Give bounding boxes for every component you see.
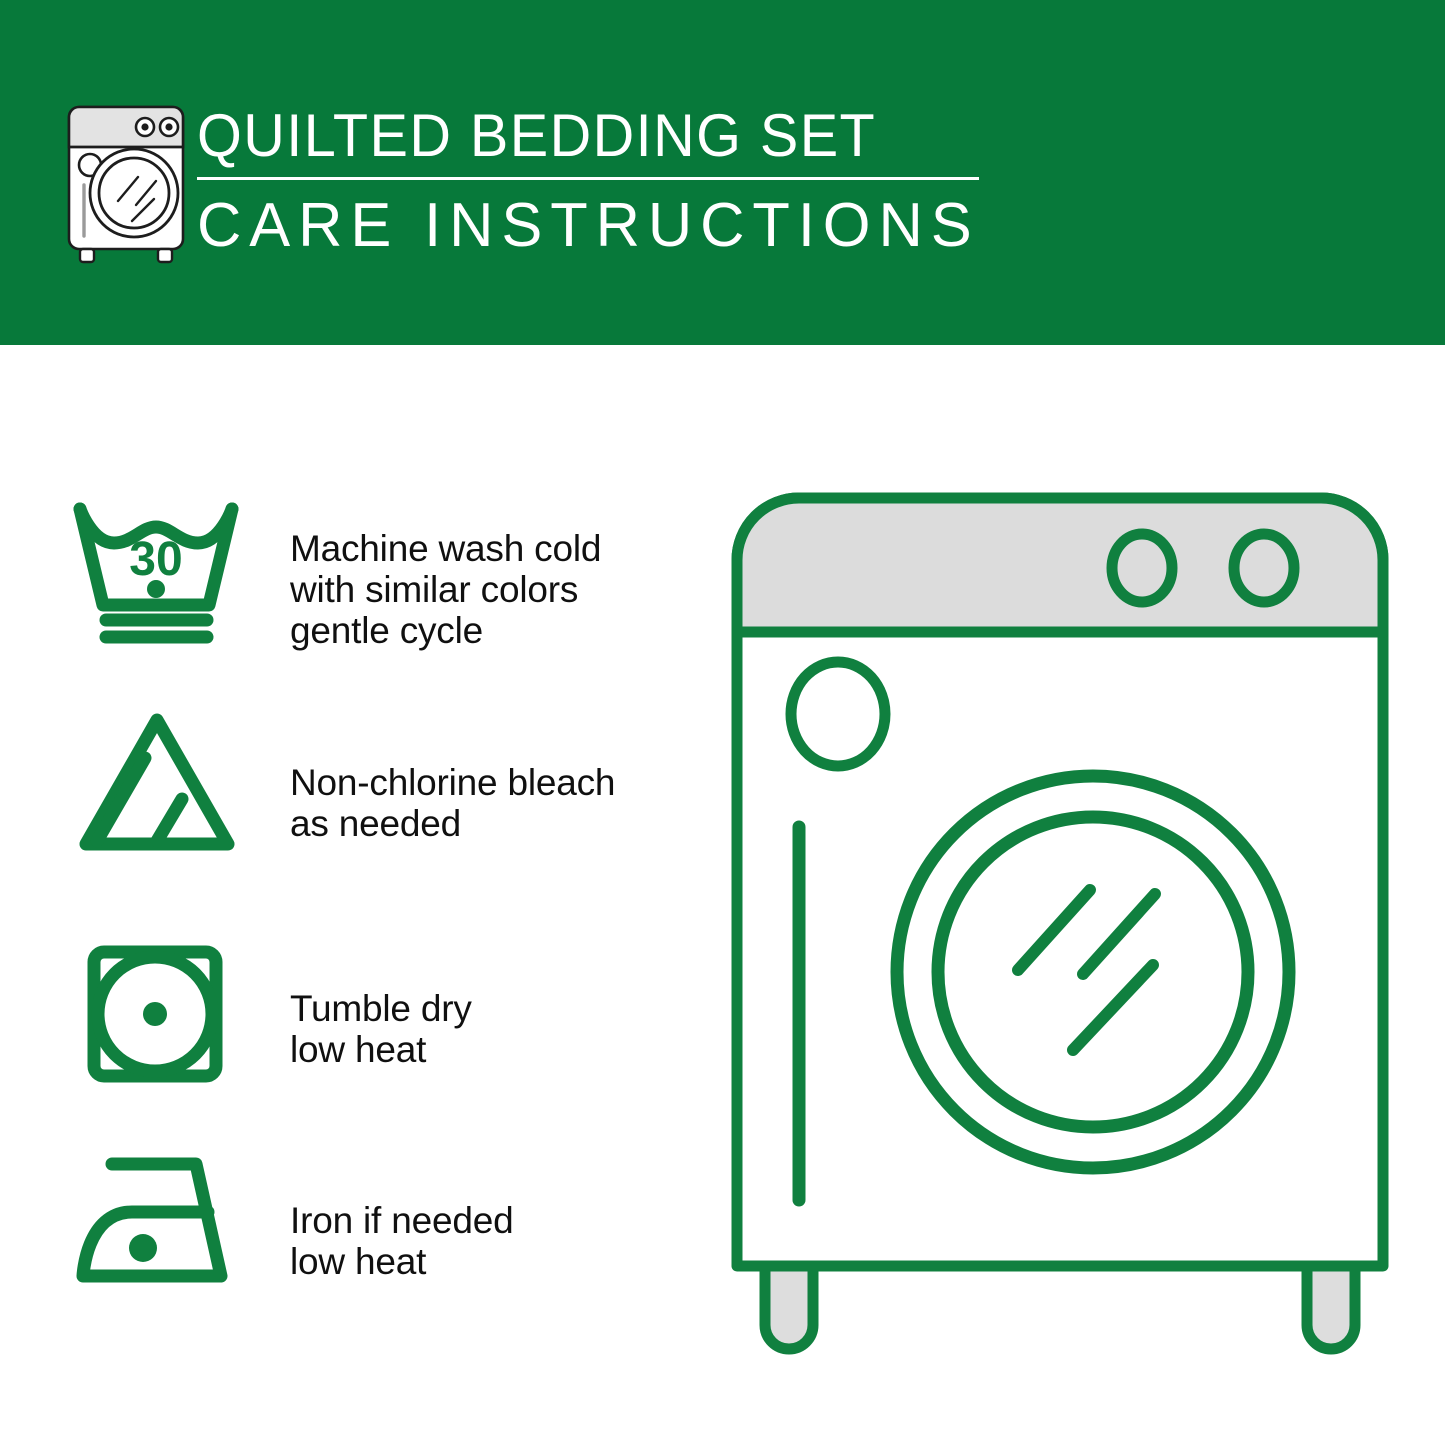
leg-right <box>1307 1265 1355 1349</box>
large-washing-machine-illustration <box>715 470 1405 1370</box>
care-line: Iron if needed <box>290 1200 513 1241</box>
care-row-machine-wash: 30 Machine wash cold with similar colors… <box>0 495 700 675</box>
title-divider <box>197 177 979 180</box>
care-line: low heat <box>290 1029 472 1070</box>
iron-low-heat-icon <box>70 1150 245 1300</box>
care-instructions-page: QUILTED BEDDING SET CARE INSTRUCTIONS 30 <box>0 0 1445 1445</box>
care-line: with similar colors <box>290 569 601 610</box>
care-row-iron: Iron if needed low heat <box>0 1150 700 1330</box>
wash-temperature-value: 30 <box>129 533 182 586</box>
page-subtitle: CARE INSTRUCTIONS <box>197 186 989 266</box>
care-text-iron: Iron if needed low heat <box>290 1200 513 1282</box>
care-line: as needed <box>290 803 615 844</box>
non-chlorine-bleach-triangle-icon <box>70 710 245 860</box>
care-text-bleach: Non-chlorine bleach as needed <box>290 762 615 844</box>
care-row-bleach: Non-chlorine bleach as needed <box>0 710 700 890</box>
wash-tub-30-icon: 30 <box>70 495 245 645</box>
care-line: Non-chlorine bleach <box>290 762 615 803</box>
header-text-block: QUILTED BEDDING SET CARE INSTRUCTIONS <box>197 100 997 266</box>
header-banner: QUILTED BEDDING SET CARE INSTRUCTIONS <box>0 0 1445 345</box>
page-title: QUILTED BEDDING SET <box>197 100 965 172</box>
care-line: Tumble dry <box>290 988 472 1029</box>
tumble-dry-low-icon <box>70 940 245 1090</box>
care-line: low heat <box>290 1241 513 1282</box>
care-text-machine-wash: Machine wash cold with similar colors ge… <box>290 528 601 651</box>
care-text-tumble-dry: Tumble dry low heat <box>290 988 472 1070</box>
leg-left <box>765 1265 813 1349</box>
care-line: gentle cycle <box>290 610 601 651</box>
care-line: Machine wash cold <box>290 528 601 569</box>
care-row-tumble-dry: Tumble dry low heat <box>0 940 700 1120</box>
washing-machine-icon <box>62 101 190 264</box>
